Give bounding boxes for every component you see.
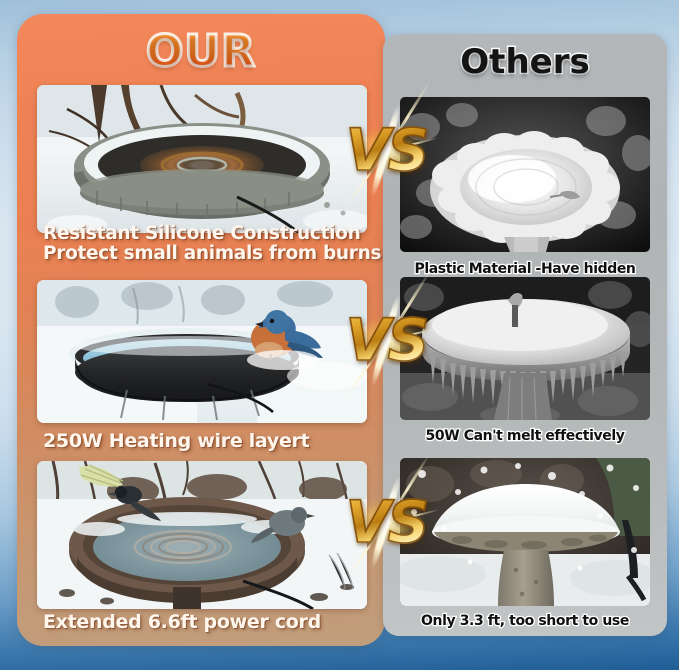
our-row-3-caption: Extended 6.6ft power cord [43, 612, 321, 632]
heated-bird-bath-snow-photo [37, 85, 367, 233]
plastic-frozen-bath-photo [400, 97, 650, 252]
others-panel: Others [383, 34, 667, 636]
our-row-3-photo [37, 461, 367, 609]
our-row-1-photo [37, 85, 367, 233]
our-row-1-caption: Resistant Silicone Construction Protect … [43, 224, 381, 263]
comparison-infographic: OUR [0, 0, 679, 670]
our-panel: OUR [17, 14, 385, 646]
others-row-1-photo [400, 97, 650, 252]
others-panel-title: Others [383, 45, 667, 79]
others-row-2-photo [400, 277, 650, 420]
our-row-2-photo [37, 280, 367, 423]
icicle-covered-bath-photo [400, 277, 650, 420]
our-panel-title: OUR [17, 30, 385, 74]
garden-bird-bath-power-cord-photo [37, 461, 367, 609]
others-row-3-caption: Only 3.3 ft, too short to use [383, 613, 667, 629]
our-row-2-caption: 250W Heating wire layert [43, 431, 309, 451]
snow-covered-bath-photo [400, 458, 650, 606]
others-row-3-photo [400, 458, 650, 606]
bluebird-on-heated-bath-photo [37, 280, 367, 423]
others-row-2-caption: 50W Can't melt effectively [383, 428, 667, 444]
